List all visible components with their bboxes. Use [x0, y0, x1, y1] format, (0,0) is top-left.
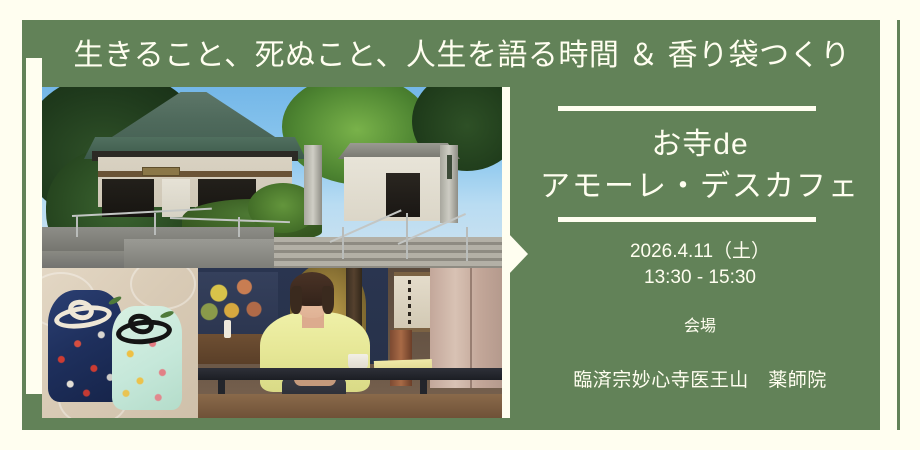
poster-title: 生きること、死ぬこと、人生を語る時間 ＆ 香り袋つくり — [42, 36, 882, 76]
right-outer-rule — [897, 20, 900, 430]
rule-below-title — [558, 217, 816, 222]
temple-wall-base-upper — [124, 239, 274, 268]
annex-door — [386, 173, 420, 217]
flower-arrangement — [198, 272, 278, 334]
event-date: 2026.4.11（土） — [520, 239, 880, 265]
hanging-scroll — [394, 272, 430, 332]
stone-pillar-left — [304, 145, 322, 225]
woman-hair-right — [322, 286, 334, 314]
photo-collage — [42, 87, 502, 418]
event-time: 13:30 - 15:30 — [520, 265, 880, 291]
woman-at-temple-cafe-photo — [198, 268, 502, 418]
temple-beam — [98, 171, 292, 177]
event-name-line2: アモーレ・デスカフェ — [520, 166, 880, 208]
woman-hair-left — [290, 286, 302, 314]
event-name: お寺de アモーレ・デスカフェ — [520, 124, 880, 208]
temple-exterior-photo — [42, 87, 502, 268]
handrail-post-2 — [154, 213, 156, 235]
handrail-post-4 — [342, 227, 344, 259]
venue-label: 会場 — [520, 312, 880, 336]
right-inner-stripe — [880, 20, 897, 430]
scented-sachets-photo — [42, 268, 198, 418]
event-info-panel: お寺de アモーレ・デスカフェ 2026.4.11（土） 13:30 - 15:… — [520, 87, 880, 418]
left-inner-stripe — [26, 58, 42, 394]
stone-pillar-inscription — [447, 155, 452, 179]
handrail-post-1 — [76, 215, 78, 237]
handrail-post-3 — [238, 217, 240, 237]
candle-icon — [224, 320, 231, 338]
wooden-floor — [198, 394, 502, 418]
rule-above-title — [558, 106, 816, 111]
event-datetime: 2026.4.11（土） 13:30 - 15:30 — [520, 239, 880, 291]
handrail-post-5 — [406, 213, 408, 259]
event-name-line1: お寺de — [520, 124, 880, 166]
scroll-calligraphy — [408, 280, 411, 324]
fabric-pattern-2 — [130, 268, 196, 310]
event-poster: 生きること、死ぬこと、人生を語る時間 ＆ 香り袋つくり — [0, 0, 920, 450]
handrail-post-6 — [466, 227, 468, 261]
temple-plaque — [142, 167, 180, 176]
venue-name: 臨済宗妙心寺医王山 薬師院 — [520, 365, 880, 392]
cafe-table — [198, 368, 502, 380]
